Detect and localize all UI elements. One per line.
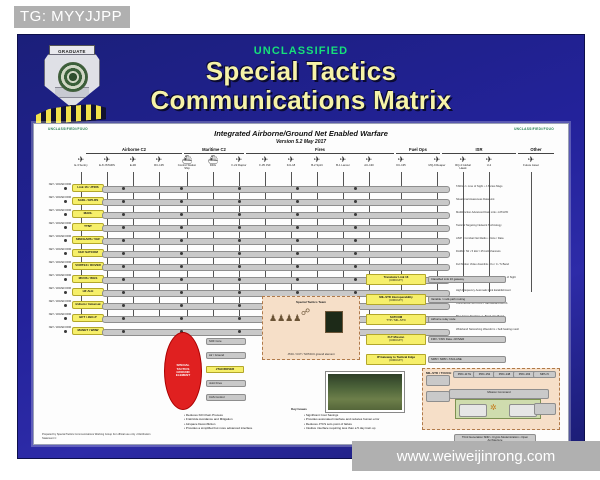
row-node [238, 330, 241, 333]
row-code: NET / WAVEFORM [46, 197, 71, 200]
row-node [238, 265, 241, 268]
right-callout-label-4[interactable]: IP Gateway to Tactical Edge (CIRCUIT) [366, 354, 426, 365]
platform-10[interactable]: ✈ B-1 Lancer [332, 155, 354, 167]
row-node [122, 265, 125, 268]
c2-radio-block-4[interactable]: MPU-5 [533, 371, 556, 378]
c2-gateway-output [534, 403, 556, 415]
row-note: Wideband Networking Waveform • Self-heal… [456, 328, 556, 331]
c2-gateway-bus: Mission Command [449, 389, 549, 399]
row-node [122, 252, 125, 255]
row-node [122, 226, 125, 229]
network-row-4[interactable]: NET / WAVEFORM SINCGARS / VHF ASIP • Com… [44, 234, 558, 247]
row-node [122, 187, 125, 190]
row-node [122, 278, 125, 281]
platform-label: E-3 Sentry [70, 164, 92, 167]
right-callout-bar-1: Variable / multi-path routing [428, 296, 506, 303]
row-label: MADL [72, 210, 104, 218]
ellipse-line-4: ELEMENT [176, 374, 190, 377]
right-callout-label-0[interactable]: Translator Link 16 (CIRCUIT) [366, 274, 426, 285]
platform-8[interactable]: ✈ F/A-18 [280, 155, 302, 167]
platform-16[interactable]: ✈ Future Asset [520, 155, 542, 167]
row-bus-bar [102, 264, 450, 271]
row-label: HF ALE [72, 288, 104, 296]
row-label: TTNT [72, 223, 104, 231]
platform-11[interactable]: ✈ AC-130 [358, 155, 380, 167]
row-node [296, 187, 299, 190]
c2-gateway-callout: MIL-STD / TOUCH C2 Gateway PRC-117GPRC-1… [422, 368, 560, 430]
platform-group-label: Other [518, 147, 554, 152]
row-code: NET / WAVEFORM [46, 301, 71, 304]
platform-label: B-2 Spirit [306, 164, 328, 167]
title-line-2: Communications Matrix [18, 86, 584, 115]
platform-9[interactable]: ✈ B-2 Spirit [306, 155, 328, 167]
row-node [354, 252, 357, 255]
network-row-1[interactable]: NET / WAVEFORM SADL / EPLRS Situational … [44, 195, 558, 208]
hub-star-icon: ✲ [490, 403, 497, 412]
platform-label: U-2 [478, 164, 500, 167]
platform-group-label: Fires [246, 147, 394, 152]
row-label: VORTEX / ROVER [72, 262, 104, 270]
row-node [122, 291, 125, 294]
row-note: DAMA / IW • 5 kHz / 25 kHz channels [456, 250, 556, 253]
platform-label: B-1 Lancer [332, 164, 354, 167]
row-label: BFT / JBC-P [72, 314, 104, 322]
row-node [238, 239, 241, 242]
row-node [354, 278, 357, 281]
row-node [180, 265, 183, 268]
row-node [238, 304, 241, 307]
key-issues-heading: Key Issues [184, 407, 414, 412]
row-node [64, 252, 67, 255]
platform-label: RQ-4 Global Hawk [452, 164, 474, 170]
row-node [180, 200, 183, 203]
platform-1[interactable]: ✈ E-8 JSTARS [96, 155, 118, 167]
row-node [296, 265, 299, 268]
row-node [354, 213, 357, 216]
soldier-figures-icon: ♟♟♟♟ [269, 313, 301, 324]
platform-group-rule [518, 153, 554, 154]
screenshot-root: TG: MYYJJPP GRADUATE UNCLASSIFIED Specia… [0, 0, 600, 480]
tg-tag-overlay: TG: MYYJJPP [14, 6, 130, 28]
row-node [354, 200, 357, 203]
red-ellipse-tag-2[interactable]: JTAC/ROVER [206, 366, 244, 373]
key-issues-right-list: Significant Cost SavingsProvides automat… [304, 413, 414, 431]
row-node [122, 330, 125, 333]
platform-label: F/A-18 [280, 164, 302, 167]
row-node [354, 239, 357, 242]
core-module-left [459, 404, 487, 417]
row-label: Link 16 / JTIDS [72, 184, 104, 192]
row-node [180, 304, 183, 307]
row-note: ASIP • Combat Net Radio • Voice / Data [456, 237, 556, 240]
right-callout-sub: (CIRCUIT) [368, 339, 424, 342]
platform-15[interactable]: ✈ U-2 [478, 155, 500, 167]
row-code: NET / WAVEFORM [46, 184, 71, 187]
row-node [180, 278, 183, 281]
row-node [238, 278, 241, 281]
aerial-photo-inset [326, 372, 404, 412]
row-node [238, 291, 241, 294]
row-node [122, 213, 125, 216]
core-module-right [509, 404, 537, 417]
row-node [64, 278, 67, 281]
row-node [64, 200, 67, 203]
row-node [64, 265, 67, 268]
right-callout-label-3[interactable]: FLT Mission (CIRCUIT) [366, 334, 426, 345]
row-node [64, 330, 67, 333]
platform-14[interactable]: ✈ RQ-4 Global Hawk [452, 155, 474, 170]
platform-label: F-22 Raptor [228, 164, 250, 167]
row-node [238, 317, 241, 320]
row-label: SADL / EPLRS [72, 197, 104, 205]
platform-group-label: Maritime C2 [184, 147, 244, 152]
network-row-5[interactable]: NET / WAVEFORM UHF SATCOM DAMA / IW • 5 … [44, 247, 558, 260]
communications-matrix-diagram: UNCLASSIFIED//FOUO UNCLASSIFIED//FOUO In… [33, 123, 569, 445]
platform-label: DDG [202, 164, 224, 167]
platform-7[interactable]: ✈ F-35 JSF [254, 155, 276, 167]
row-node [238, 226, 241, 229]
red-ellipse-tag-4[interactable]: CAS Control [206, 394, 246, 401]
row-code: NET / WAVEFORM [46, 249, 71, 252]
platform-0[interactable]: ✈ E-3 Sentry [70, 155, 92, 167]
platform-group-label: ISR [442, 147, 516, 152]
row-node [122, 239, 125, 242]
antenna-icon: ☍ [301, 307, 310, 318]
row-label: UHF SATCOM [72, 249, 104, 257]
row-note: Multifunction Advanced Data Link • LPI/L… [456, 211, 556, 214]
platform-group-rule [442, 153, 516, 154]
row-node [64, 317, 67, 320]
right-callout-bar-4: SIPR / NIPR • TACLANE [428, 356, 506, 363]
right-callout-sub: (CIRCUIT) [368, 279, 424, 282]
c2-gateway-aux [426, 375, 450, 386]
platform-group-rule [396, 153, 440, 154]
key-issues-left-list: Reduces Kill Chain ProcessFratricide Avo… [184, 413, 294, 431]
c2-gateway-core: ✲ [455, 399, 541, 419]
row-node [238, 213, 241, 216]
right-callout-label-2[interactable]: SATCOM TTP / MIL-STD [366, 314, 426, 325]
c2-gateway-radio-blocks: PRC-117GPRC-152PRC-148PRC-163MPU-5 [453, 371, 556, 385]
special-tactics-ground-element-ellipse: SPECIAL TACTICS GROUND ELEMENT [164, 332, 202, 410]
platform-group-label: Airborne C2 [86, 147, 182, 152]
row-note: Tactical Targeting Network Technology [456, 224, 556, 227]
row-node [296, 291, 299, 294]
row-node [180, 213, 183, 216]
row-code: NET / WAVEFORM [46, 236, 71, 239]
row-bus-bar [102, 212, 450, 219]
row-code: NET / WAVEFORM [46, 314, 71, 317]
c2-gateway-input [426, 391, 450, 402]
platform-3[interactable]: ✈ RC-135 [148, 155, 170, 167]
row-label: MUOS / WGS [72, 275, 104, 283]
row-node [122, 304, 125, 307]
row-node [296, 278, 299, 281]
row-node [180, 317, 183, 320]
row-node [238, 187, 241, 190]
row-note: High Frequency Automatic Link Establishm… [456, 289, 556, 292]
diagram-subtitle: Version 5.2 May 2017 [34, 139, 568, 145]
row-bus-bar [102, 225, 450, 232]
right-callout-label-1[interactable]: MIL-STD Interoperability (CIRCUIT) [366, 294, 426, 305]
platform-label: KC-135 [390, 164, 412, 167]
platform-12[interactable]: ✈ KC-135 [390, 155, 412, 167]
right-callout-sub: (CIRCUIT) [368, 359, 424, 362]
platform-group-rule [184, 153, 244, 154]
row-node [64, 226, 67, 229]
row-bus-bar [102, 199, 450, 206]
row-note: Full Motion Video downlink • Ku / C / S … [456, 263, 556, 266]
row-node [122, 317, 125, 320]
row-code: NET / WAVEFORM [46, 288, 71, 291]
network-row-3[interactable]: NET / WAVEFORM TTNT Tactical Targeting N… [44, 221, 558, 234]
row-node [354, 187, 357, 190]
row-node [180, 226, 183, 229]
row-node [64, 187, 67, 190]
row-note: Situational Awareness Data Link [456, 198, 556, 201]
row-node [64, 213, 67, 216]
right-callout-bar-2: Airborne relay node [428, 316, 506, 323]
platform-label: Control Station Ship [176, 164, 198, 170]
row-node [238, 200, 241, 203]
red-ellipse-tag-3[interactable]: Joint Fires [206, 380, 246, 387]
right-callout-sub: (CIRCUIT) [368, 299, 424, 302]
platform-group-rule [86, 153, 182, 154]
key-issue-item: Provides a simplified but more advanced … [184, 426, 294, 431]
platform-label: Future Asset [520, 164, 542, 167]
platform-group-rule [246, 153, 394, 154]
platform-label: MQ-9 Reaper [426, 164, 448, 167]
row-code: NET / WAVEFORM [46, 223, 71, 226]
row-node [354, 265, 357, 268]
row-node [180, 252, 183, 255]
row-node [354, 226, 357, 229]
row-code: NET / WAVEFORM [46, 327, 71, 330]
row-node [64, 239, 67, 242]
network-row-0[interactable]: NET / WAVEFORM Link 16 / JTIDS TADIL-J •… [44, 182, 558, 195]
site-watermark: www.weiweijinrong.com [352, 441, 600, 471]
row-label: Iridium / Inmarsat [72, 301, 104, 309]
laptop-icon [325, 311, 343, 333]
platform-label: AC-130 [358, 164, 380, 167]
row-node [180, 187, 183, 190]
platform-4[interactable]: ⛴ Control Station Ship [176, 155, 198, 170]
row-code: NET / WAVEFORM [46, 210, 71, 213]
diagram-footer-note: Prepared by Special Tactics Communicatio… [42, 433, 162, 440]
ground-team-callout-caption: JTAC / CCT / SOTACC ground element [263, 353, 359, 356]
row-code: NET / WAVEFORM [46, 262, 71, 265]
row-bus-bar [102, 238, 450, 245]
row-bus-bar [102, 186, 450, 193]
row-node [122, 200, 125, 203]
platform-2[interactable]: ✈ E-2D [122, 155, 144, 167]
row-node [238, 252, 241, 255]
platform-5[interactable]: ⛴ DDG [202, 155, 224, 167]
row-node [296, 213, 299, 216]
row-label: SINCGARS / VHF [72, 236, 104, 244]
network-row-2[interactable]: NET / WAVEFORM MADL Multifunction Advanc… [44, 208, 558, 221]
presentation-slide: GRADUATE UNCLASSIFIED Special Tactics Co… [17, 34, 585, 459]
platform-label: E-2D [122, 164, 144, 167]
platform-label: RC-135 [148, 164, 170, 167]
row-node [296, 239, 299, 242]
platform-label: E-8 JSTARS [96, 164, 118, 167]
row-bus-bar [102, 251, 450, 258]
right-callout-bar-0: Classified Link 16 gateway [428, 276, 506, 283]
right-callout-bar-3: FMV / FMV Data • ROVER [428, 336, 506, 343]
row-node [354, 291, 357, 294]
key-issues-block: Key Issues Reduces Kill Chain ProcessFra… [184, 407, 414, 431]
row-note: TADIL-J • Line of Sight • J-Series Msgs [456, 185, 556, 188]
ground-team-callout: Special Tactics Team ♟♟♟♟ ☍ JTAC / CCT /… [262, 296, 360, 360]
platform-6[interactable]: ✈ F-22 Raptor [228, 155, 250, 167]
row-node [180, 291, 183, 294]
row-node [296, 226, 299, 229]
row-label: MANET / WNW [72, 327, 104, 335]
key-issue-item: Intuitive interface requiring less than … [304, 426, 414, 431]
row-code: NET / WAVEFORM [46, 275, 71, 278]
platform-label: F-35 JSF [254, 164, 276, 167]
diagram-title: Integrated Airborne/Ground Net Enabled W… [34, 129, 568, 138]
platform-group-label: Fuel Ops [396, 147, 440, 152]
red-ellipse-tag-1[interactable]: Air / Ground [206, 352, 246, 359]
network-row-6[interactable]: NET / WAVEFORM VORTEX / ROVER Full Motio… [44, 260, 558, 273]
right-callout-sub: TTP / MIL-STD [368, 319, 424, 322]
row-node [180, 239, 183, 242]
row-node [296, 252, 299, 255]
row-node [64, 304, 67, 307]
red-ellipse-tag-0[interactable]: SOF Core [206, 338, 246, 345]
platform-13[interactable]: ✈ MQ-9 Reaper [426, 155, 448, 167]
page-title: Special Tactics Communications Matrix [18, 57, 584, 115]
row-node [296, 200, 299, 203]
ground-team-callout-title: Special Tactics Team [263, 300, 359, 304]
title-line-1: Special Tactics [18, 57, 584, 86]
row-node [64, 291, 67, 294]
